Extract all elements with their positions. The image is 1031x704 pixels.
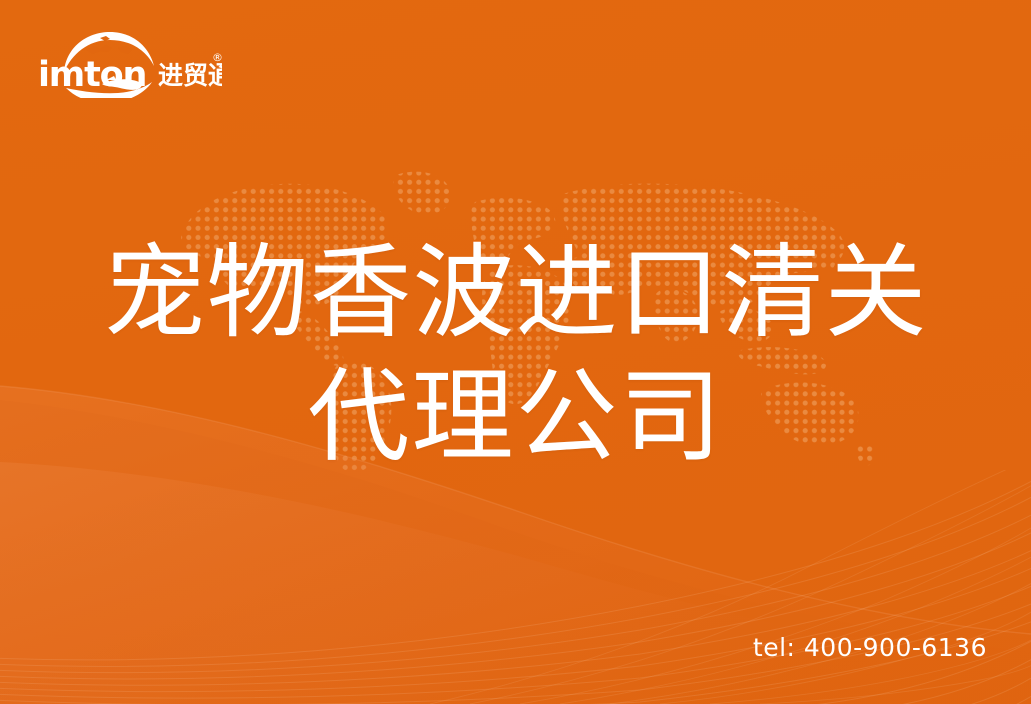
contact-phone: tel: 400-900-6136 [753, 633, 987, 662]
headline-line-1: 宠物香波进口清关 [0, 232, 1031, 356]
headline: 宠物香波进口清关 代理公司 [0, 232, 1031, 480]
company-logo[interactable]: imton 进贸通 ® [36, 28, 222, 98]
logo-wordmark: imton [38, 55, 146, 95]
headline-line-2: 代理公司 [0, 356, 1031, 480]
promo-banner: imton 进贸通 ® 宠物香波进口清关 代理公司 tel: 400-900-6… [0, 0, 1031, 704]
fine-line-fan-pattern [0, 470, 1031, 704]
logo-chinese-name: 进贸通 [158, 61, 222, 90]
trademark-icon: ® [212, 51, 222, 64]
